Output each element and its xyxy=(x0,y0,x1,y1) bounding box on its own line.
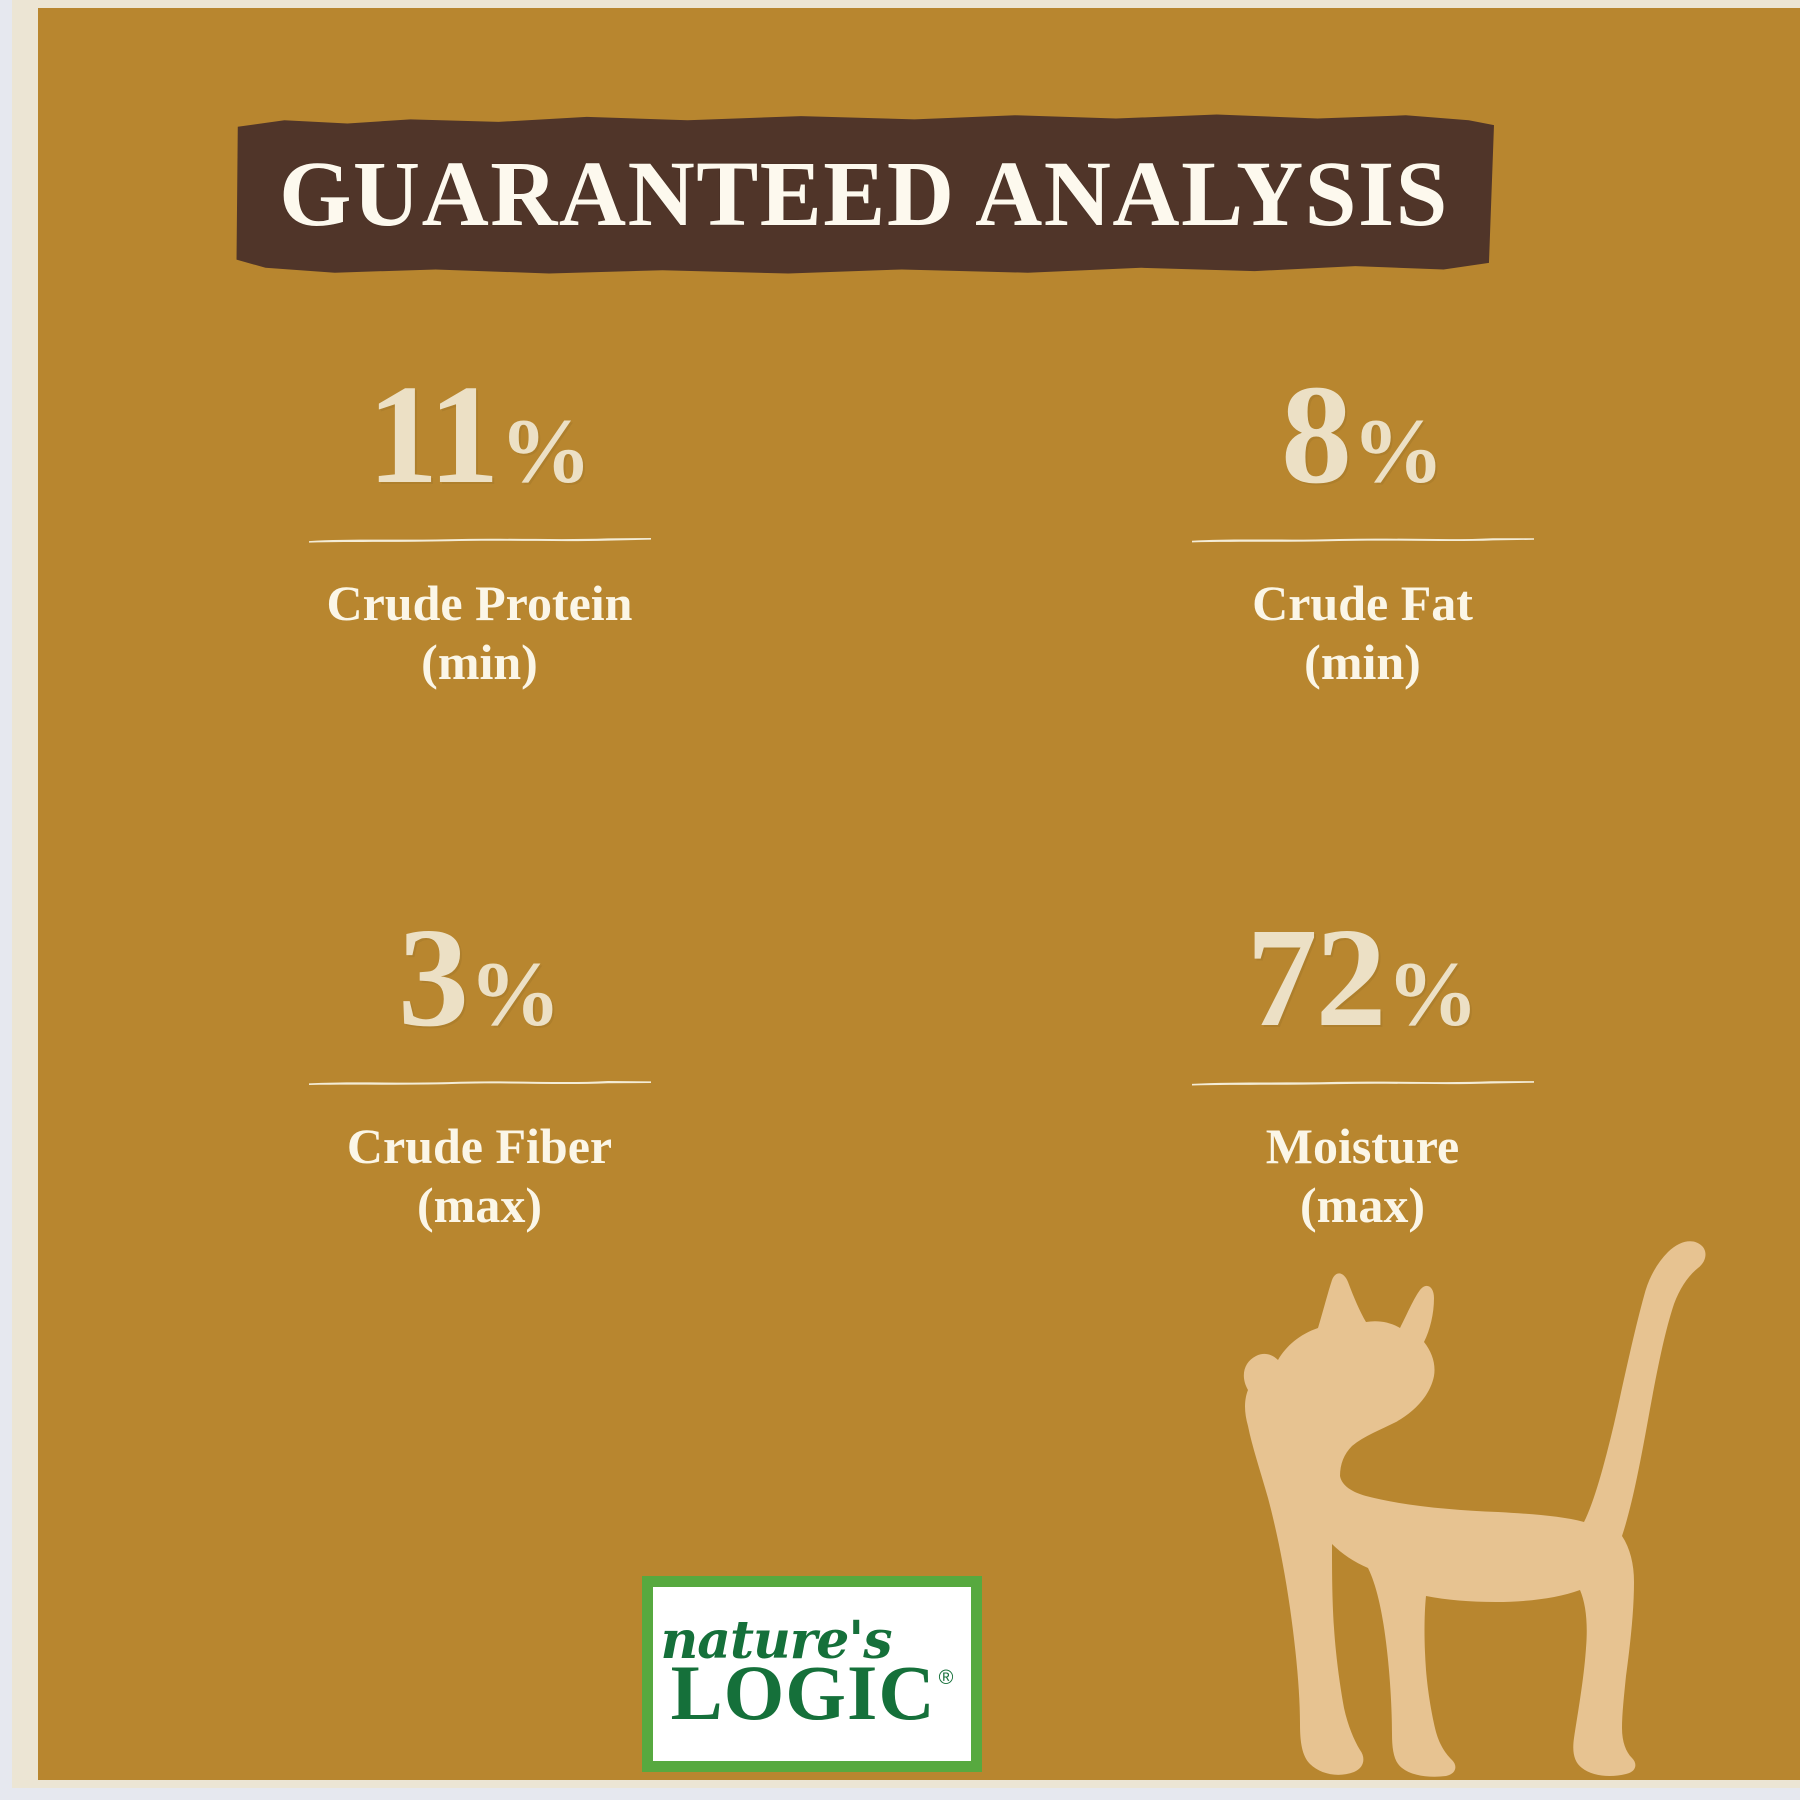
logo-main-text: LOGIC xyxy=(671,1656,936,1730)
registered-trademark-icon: ® xyxy=(939,1668,954,1688)
stat-qualifier-crude-fat: (min) xyxy=(1304,633,1421,692)
analysis-row-2: 3% Crude Fiber (max) xyxy=(38,906,1800,1235)
stat-number: 72 xyxy=(1247,906,1385,1048)
stat-value-crude-fat: 8% xyxy=(1281,363,1444,513)
stat-qualifier-moisture: (max) xyxy=(1300,1176,1425,1235)
stat-number: 8 xyxy=(1281,363,1350,505)
stat-number: 3 xyxy=(398,906,467,1048)
stat-qualifier-crude-fiber: (max) xyxy=(417,1176,542,1235)
analysis-grid: 11% Crude Protein (min) xyxy=(38,363,1800,1235)
divider-rule xyxy=(1191,535,1535,544)
stat-label-moisture: Moisture xyxy=(1266,1117,1459,1176)
page-title: GUARANTEED ANALYSIS xyxy=(234,112,1494,276)
stat-qualifier-crude-protein: (min) xyxy=(421,633,538,692)
analysis-cell-crude-fiber: 3% Crude Fiber (max) xyxy=(38,906,921,1235)
stat-value-moisture: 72% xyxy=(1247,906,1479,1056)
analysis-cell-crude-protein: 11% Crude Protein (min) xyxy=(38,363,921,692)
stat-value-crude-fiber: 3% xyxy=(398,906,561,1056)
percent-sign: % xyxy=(500,405,592,497)
cat-silhouette-icon xyxy=(1152,1180,1800,1780)
stat-number: 11 xyxy=(367,363,497,505)
natures-logic-logo[interactable]: nature's LOGIC ® xyxy=(642,1576,982,1772)
analysis-row-1: 11% Crude Protein (min) xyxy=(38,363,1800,692)
logo-main-row: LOGIC ® xyxy=(671,1656,954,1730)
gold-background-panel: GUARANTEED ANALYSIS 11% xyxy=(38,8,1800,1780)
divider-rule xyxy=(1191,1078,1535,1087)
percent-sign: % xyxy=(469,948,561,1040)
percent-sign: % xyxy=(1352,405,1444,497)
stat-label-crude-fat: Crude Fat xyxy=(1252,574,1473,633)
analysis-cell-moisture: 72% Moisture (max) xyxy=(921,906,1800,1235)
stat-label-crude-protein: Crude Protein xyxy=(327,574,633,633)
stat-label-crude-fiber: Crude Fiber xyxy=(347,1117,612,1176)
percent-sign: % xyxy=(1387,948,1479,1040)
analysis-cell-crude-fat: 8% Crude Fat (min) xyxy=(921,363,1800,692)
stat-value-crude-protein: 11% xyxy=(367,363,591,513)
header-banner: GUARANTEED ANALYSIS xyxy=(234,112,1494,276)
divider-rule xyxy=(308,1078,652,1087)
guaranteed-analysis-panel: GUARANTEED ANALYSIS 11% xyxy=(0,0,1800,1800)
outer-frame: GUARANTEED ANALYSIS 11% xyxy=(12,0,1800,1788)
divider-rule xyxy=(308,535,652,544)
